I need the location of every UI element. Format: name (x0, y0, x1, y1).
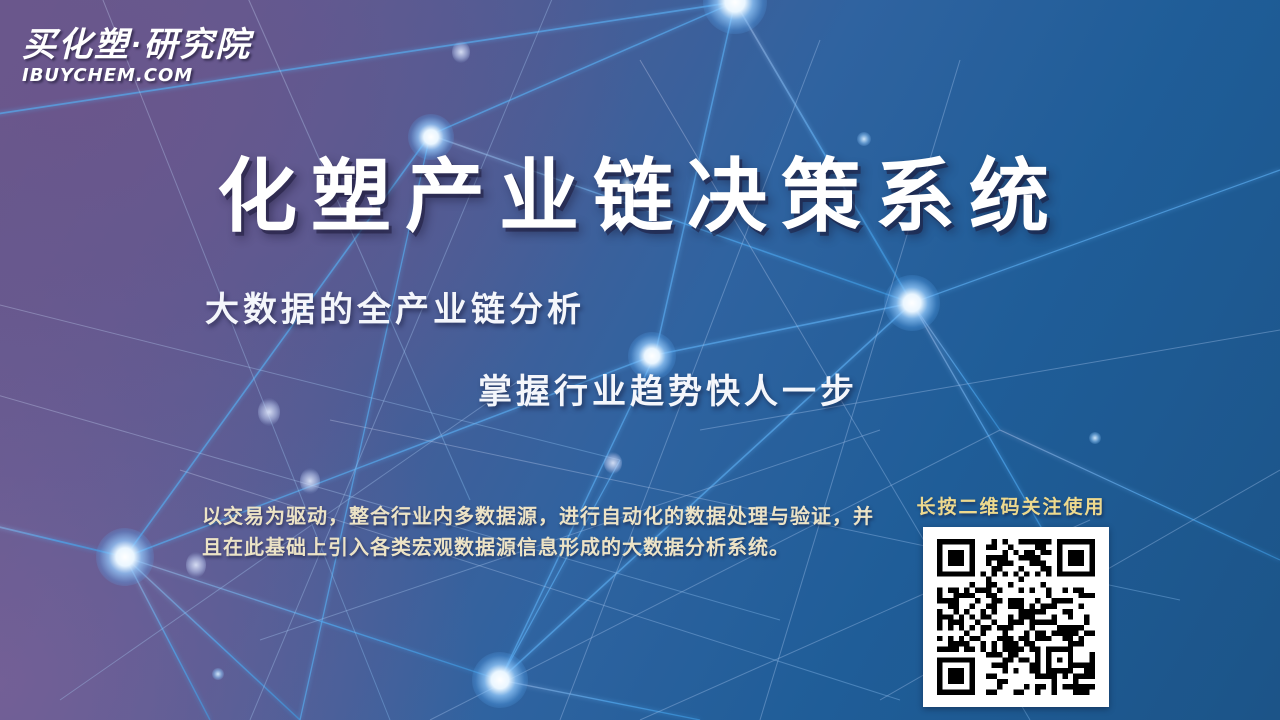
subtitle-line-2: 掌握行业趋势快人一步 (478, 364, 858, 413)
brand-logo: 买化塑·研究院 IBUYCHEM.COM (22, 28, 251, 86)
description-text: 以交易为驱动，整合行业内多数据源，进行自动化的数据处理与验证，并且在此基础上引入… (202, 502, 878, 564)
promo-banner: 买化塑·研究院 IBUYCHEM.COM 化塑产业链决策系统 大数据的全产业链分… (0, 0, 1280, 720)
qr-caption: 长按二维码关注使用 (906, 492, 1116, 519)
page-title: 化塑产业链决策系统 (0, 132, 1280, 248)
qr-code-image[interactable] (937, 539, 1095, 695)
qr-code-panel[interactable] (923, 527, 1109, 707)
brand-logo-cn: 买化塑·研究院 (22, 28, 251, 62)
brand-logo-en: IBUYCHEM.COM (22, 65, 251, 86)
subtitle-line-1: 大数据的全产业链分析 (205, 282, 585, 331)
